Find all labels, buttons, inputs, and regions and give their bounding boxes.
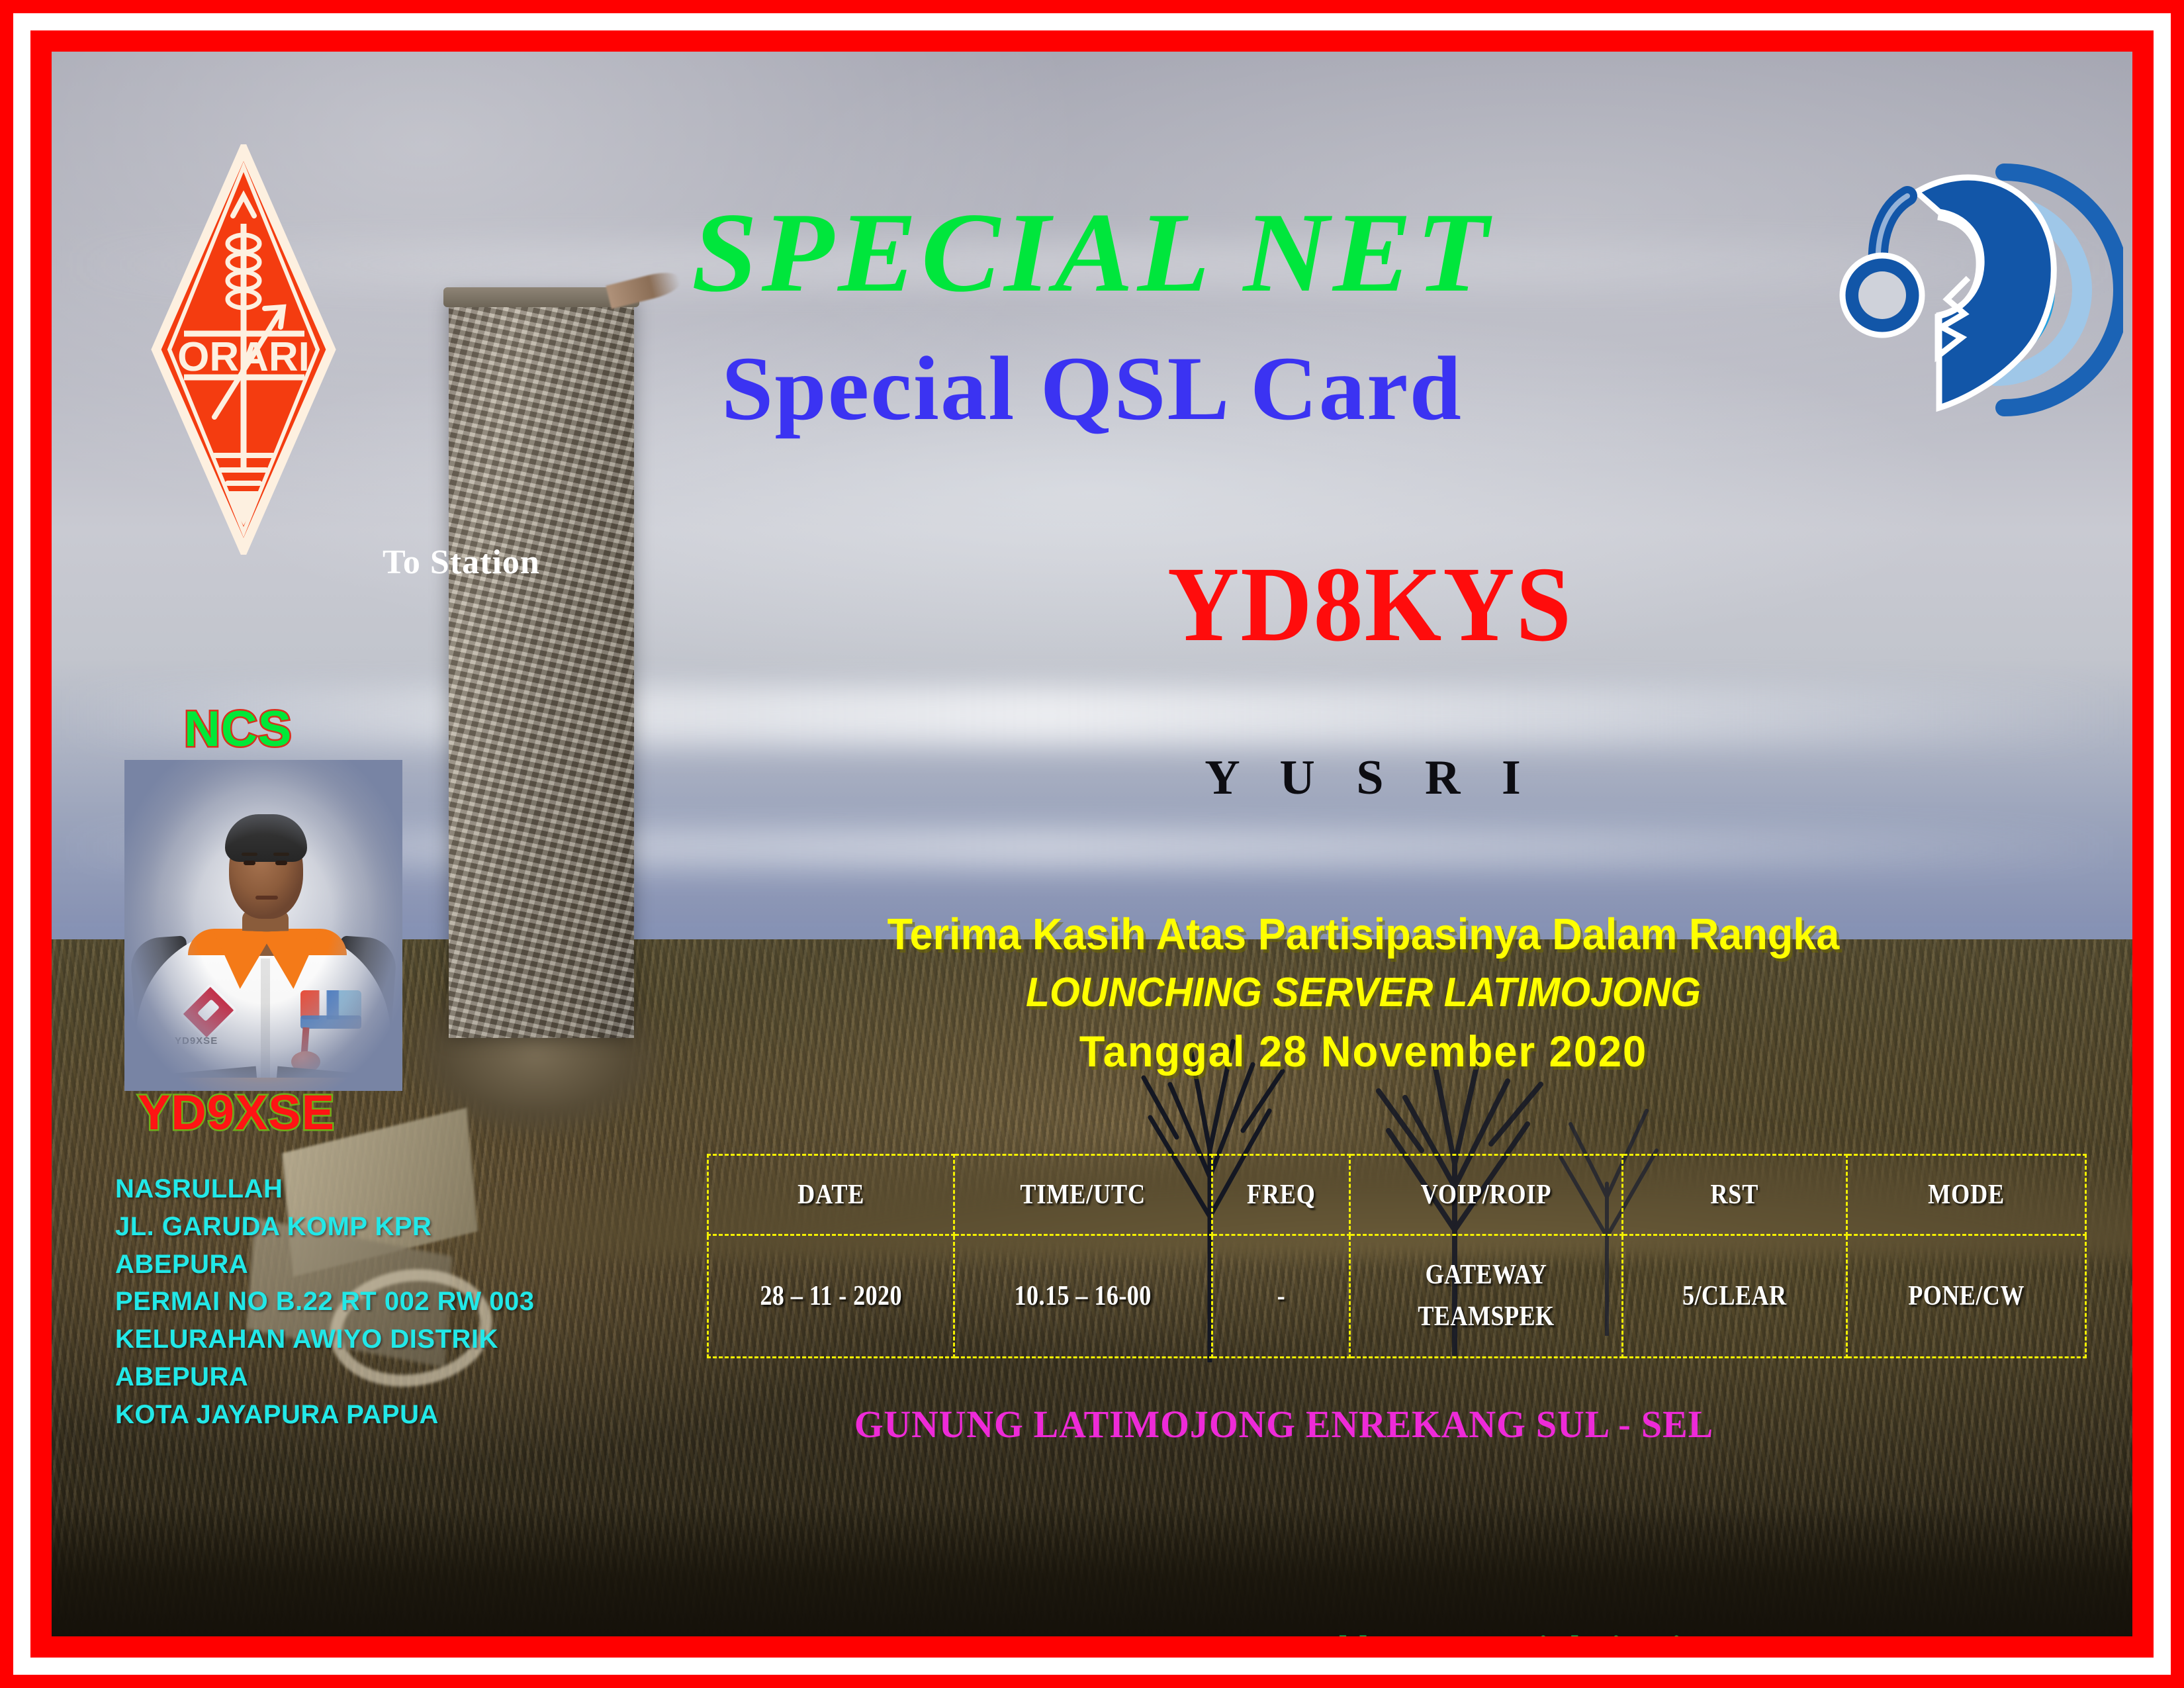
qso-details-table: DATE TIME/UTC FREQ VOIP/ROIP RST MODE 28…	[707, 1154, 2087, 1358]
table-header-mode: MODE	[1846, 1155, 2085, 1235]
operator-name: Y U S R I	[793, 753, 1947, 802]
card-subtitle: Special QSL Card	[52, 343, 2132, 434]
thanks-line-2: LOUNCHING SERVER LATIMOJONG	[784, 972, 1943, 1013]
address-line: KELURAHAN AWIYO DISTRIK	[115, 1321, 534, 1358]
address-line: ABEPURA	[115, 1358, 534, 1396]
recipient-address: NASRULLAH JL. GARUDA KOMP KPR ABEPURA PE…	[115, 1170, 534, 1434]
address-line: ABEPURA	[115, 1246, 534, 1284]
table-header-time: TIME/UTC	[954, 1155, 1212, 1235]
thanks-block: Terima Kasih Atas Partisipasinya Dalam R…	[753, 912, 1974, 1073]
address-line: KOTA JAYAPURA PAPUA	[115, 1396, 534, 1434]
table-header-row: DATE TIME/UTC FREQ VOIP/ROIP RST MODE	[708, 1155, 2086, 1235]
qsl-card: ORARI	[0, 0, 2184, 1688]
card-web-address: Address : amatir.latimojong.com	[1302, 1627, 1812, 1636]
ncs-label: NCS	[184, 700, 292, 758]
cell-mode: PONE/CW	[1846, 1235, 2085, 1358]
station-callsign: YD8KYS	[793, 551, 1947, 658]
cell-date: 28 – 11 - 2020	[708, 1235, 954, 1358]
table-header-freq: FREQ	[1212, 1155, 1350, 1235]
table-header-date: DATE	[708, 1155, 954, 1235]
ncs-operator-photo: YD9XSE	[124, 760, 402, 1091]
card-motto: "AMATIR RADIO ADALAH PROGRESIVE"	[124, 1627, 831, 1636]
location-line: GUNUNG LATIMOJONG ENREKANG SUL - SEL	[705, 1402, 1863, 1446]
table-header-voip: VOIP/ROIP	[1350, 1155, 1623, 1235]
card-title: SPECIAL NET	[52, 196, 2132, 310]
cell-time: 10.15 – 16-00	[954, 1235, 1212, 1358]
cell-voip: GATEWAY TEAMSPEK	[1350, 1235, 1623, 1358]
address-line: JL. GARUDA KOMP KPR	[115, 1208, 534, 1246]
cell-freq: -	[1212, 1235, 1350, 1358]
address-line: NASRULLAH	[115, 1170, 534, 1208]
foreground-dark-grass	[52, 1504, 2132, 1636]
address-line: PERMAI NO B.22 RT 002 RW 003	[115, 1283, 534, 1321]
to-station-label: To Station	[383, 543, 540, 582]
ncs-callsign: YD9XSE	[138, 1084, 335, 1141]
card-photo-background: ORARI	[52, 52, 2132, 1636]
thanks-line-1: Terima Kasih Atas Partisipasinya Dalam R…	[790, 912, 1936, 957]
cloud-band-mid	[52, 686, 2132, 745]
portrait-vignette	[124, 760, 402, 1091]
thanks-line-3: Tanggal 28 November 2020	[778, 1029, 1949, 1073]
table-header-rst: RST	[1623, 1155, 1847, 1235]
cell-rst: 5/CLEAR	[1623, 1235, 1847, 1358]
table-row: 28 – 11 - 2020 10.15 – 16-00 - GATEWAY T…	[708, 1235, 2086, 1358]
